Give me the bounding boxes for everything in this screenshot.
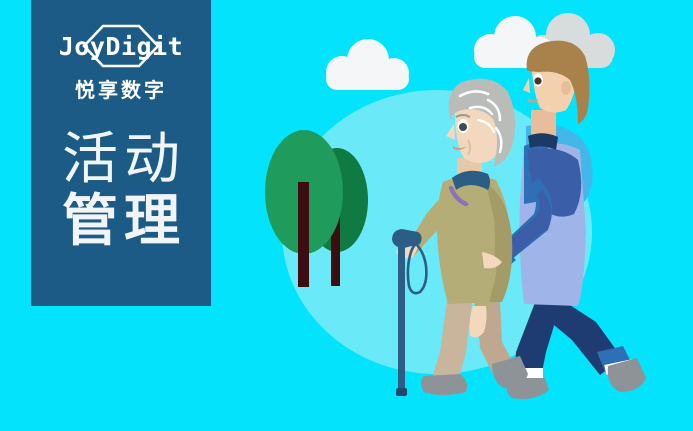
title-panel: JoyDigit 悦享数字 活动 管理 [31, 0, 211, 306]
brand-block: JoyDigit 悦享数字 [31, 26, 211, 103]
poster-canvas: JoyDigit 悦享数字 活动 管理 [0, 0, 693, 431]
man-pupil [534, 77, 541, 84]
woman-front-shoe [421, 374, 467, 395]
logo-wordmark: JoyDigit [59, 34, 183, 59]
page-title: 活动 管理 [31, 129, 211, 253]
brand-chinese-name: 悦享数字 [75, 74, 167, 103]
page-title-line-1: 活动 [56, 129, 186, 191]
man-ear [561, 81, 571, 95]
logo: JoyDigit [41, 26, 201, 66]
woman-pupil [459, 123, 467, 131]
cane-tip [396, 388, 407, 396]
page-title-line-2: 管理 [56, 191, 186, 253]
cane-shaft [398, 244, 405, 392]
